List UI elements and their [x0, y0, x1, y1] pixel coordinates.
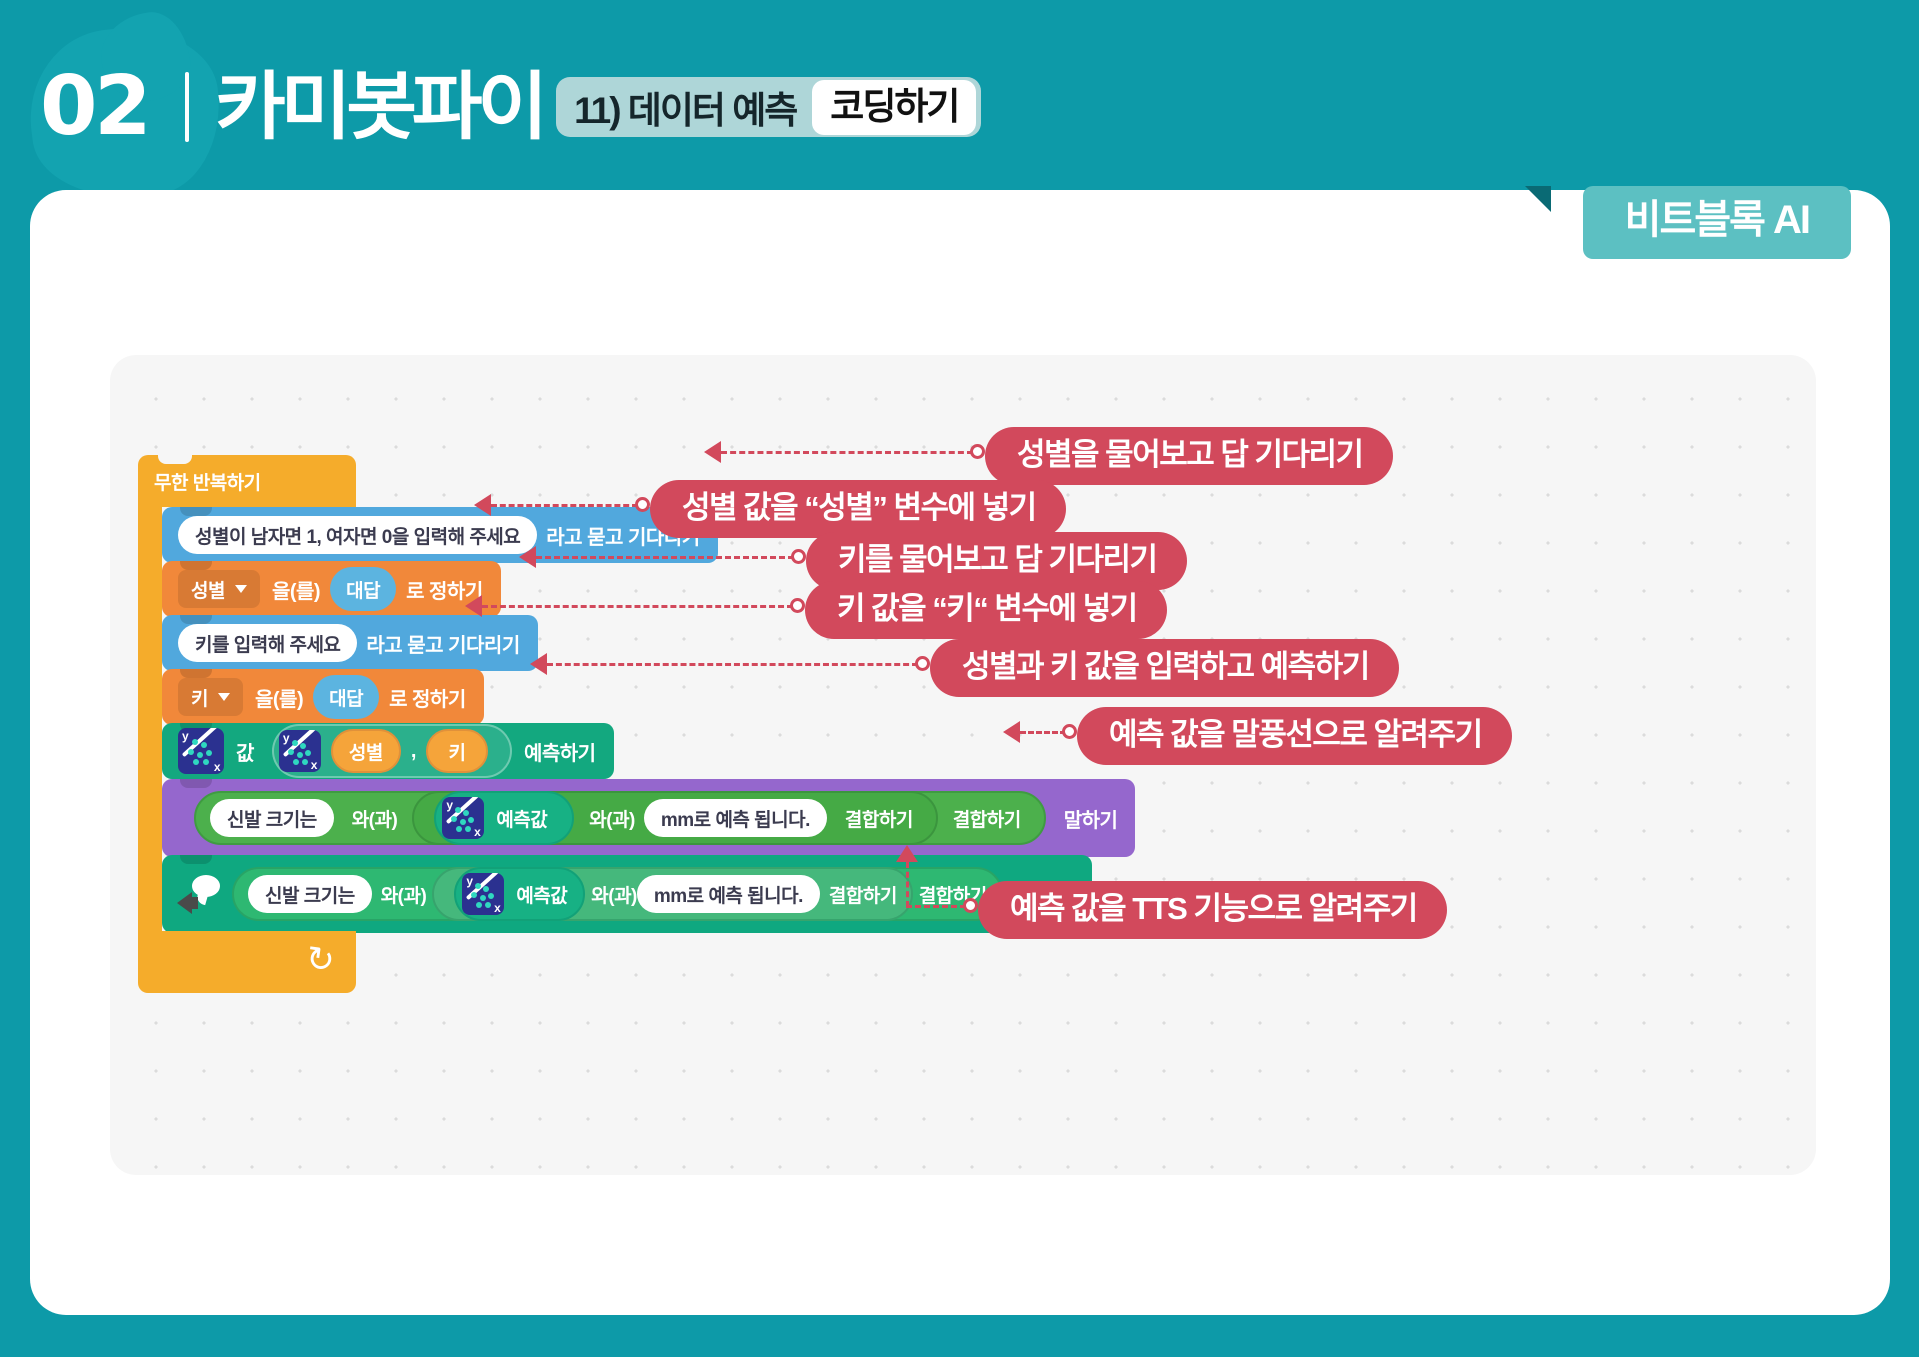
forever-label: 무한 반복하기	[154, 468, 261, 495]
callout-1: 성별을 물어보고 답 기다리기	[985, 427, 1393, 485]
ask-height-suffix: 라고 묻고 기다리기	[366, 629, 519, 658]
height-variable-dropdown[interactable]: 키	[178, 678, 243, 716]
say-block[interactable]: 신발 크기는 와(과) y x	[162, 779, 1135, 857]
chevron-down-icon	[218, 693, 230, 701]
predict-value-label: 값	[224, 737, 266, 766]
predict-suffix: 예측하기	[518, 737, 596, 766]
data-point	[476, 902, 482, 908]
say-and1-label: 와(과)	[343, 805, 407, 832]
data-point	[488, 893, 494, 899]
data-point	[197, 752, 203, 758]
say-join2-label: 결합하기	[944, 805, 1030, 832]
callout-6: 예측 값을 말풍선으로 알려주기	[1077, 707, 1512, 765]
data-point	[192, 739, 198, 745]
callout-line-4	[482, 605, 793, 608]
section-chip: 코딩하기	[812, 80, 976, 135]
scatter-plot-icon: y x	[442, 797, 484, 839]
callout-anchor-6	[1062, 724, 1077, 739]
gender-variable-reporter[interactable]: 성별	[331, 729, 401, 773]
notch-icon	[180, 669, 212, 678]
data-point	[485, 902, 491, 908]
scatter-plot-icon: y x	[279, 730, 321, 772]
page-title: 카미봇파이	[215, 70, 543, 144]
header-row: 02 카미봇파이 11) 데이터 예측 코딩하기	[40, 58, 981, 156]
data-point	[305, 750, 311, 756]
callout-line-6	[1020, 731, 1066, 734]
axis-x-label: x	[214, 760, 220, 774]
ai-badge: 비트블록 AI	[1583, 186, 1851, 259]
header-divider	[185, 72, 189, 142]
chevron-down-icon	[235, 585, 247, 593]
forever-spine	[138, 507, 162, 931]
callout-line-7-horizontal	[906, 905, 966, 908]
scatter-plot-icon: y x	[462, 873, 504, 915]
join-block-outer[interactable]: 신발 크기는 와(과) y x	[232, 867, 1003, 921]
data-point	[302, 759, 308, 765]
data-point	[480, 895, 486, 901]
data-point	[188, 749, 194, 755]
argument-separator: ,	[411, 740, 416, 763]
data-point	[300, 743, 306, 749]
predict-block[interactable]: y x 값 y x	[162, 723, 614, 779]
tts-speak-block[interactable]: 신발 크기는 와(과) y x	[162, 855, 1092, 933]
data-point	[468, 817, 474, 823]
join-block-inner[interactable]: y x	[432, 867, 913, 921]
scatter-plot-icon: y x	[178, 728, 224, 774]
data-point	[288, 749, 294, 755]
notch-icon	[180, 615, 212, 624]
callout-anchor-1	[970, 444, 985, 459]
data-point	[297, 752, 303, 758]
callout-anchor-2	[635, 497, 650, 512]
callout-line-1	[721, 451, 973, 454]
data-point	[483, 886, 489, 892]
callout-line-5	[547, 663, 918, 666]
set-height-mid: 을(를)	[255, 683, 303, 712]
say-text1-input[interactable]: 신발 크기는	[210, 799, 334, 837]
callout-2: 성별 값을 “성별” 변수에 넣기	[650, 480, 1066, 538]
callout-anchor-7	[963, 898, 978, 913]
axis-y-label: y	[182, 729, 188, 743]
chapter-number: 02	[40, 66, 164, 148]
join-block-inner[interactable]: y x	[412, 791, 938, 845]
predicted-value-label: 예측값	[504, 881, 567, 908]
speaker-body-icon	[190, 897, 198, 909]
block-script: 무한 반복하기 성별이 남자면 1, 여자면 0을 입력해 주세요 라고 묻고 …	[138, 455, 356, 993]
callout-arrow-2	[474, 494, 491, 516]
notch-icon	[180, 561, 212, 570]
callout-7: 예측 값을 TTS 기능으로 알려주기	[978, 881, 1447, 939]
set-variable-height-block[interactable]: 키 을(를) 대답 로 정하기	[162, 669, 484, 725]
callout-line-3	[536, 556, 794, 559]
callout-5: 성별과 키 값을 입력하고 예측하기	[930, 639, 1399, 697]
tts-join1-label: 결합하기	[829, 881, 897, 908]
callout-arrow-4	[465, 595, 482, 617]
tts-text2-input[interactable]: mm로 예측 됩니다.	[637, 875, 820, 913]
predicted-value-reporter[interactable]: y x	[454, 867, 585, 921]
height-variable-label: 키	[191, 684, 208, 711]
tts-and2-label: 와(과)	[591, 881, 637, 908]
set-variable-gender-block[interactable]: 성별 을(를) 대답 로 정하기	[162, 561, 501, 617]
tts-text1-input[interactable]: 신발 크기는	[248, 875, 372, 913]
height-variable-reporter[interactable]: 키	[426, 729, 488, 773]
axis-y-label: y	[283, 731, 289, 745]
data-point	[203, 759, 209, 765]
callout-anchor-4	[790, 598, 805, 613]
callout-4: 키 값을 “키“ 변수에 넣기	[805, 581, 1167, 639]
axis-x-label: x	[474, 825, 480, 839]
page-header: 02 카미봇파이 11) 데이터 예측 코딩하기	[0, 0, 1919, 205]
data-point	[451, 816, 457, 822]
callout-anchor-5	[915, 656, 930, 671]
data-point	[293, 759, 299, 765]
badge-fold-decoration	[1525, 186, 1551, 212]
say-and2-label: 와(과)	[580, 805, 644, 832]
ask-and-wait-height-block[interactable]: 키를 입력해 주세요 라고 묻고 기다리기	[162, 615, 538, 671]
header-subtitle-pill: 11) 데이터 예측 코딩하기	[556, 77, 981, 137]
data-point	[292, 740, 298, 746]
notch-icon	[180, 855, 212, 864]
axis-x-label: x	[494, 901, 500, 915]
notch-icon	[158, 455, 192, 464]
ask-height-input[interactable]: 키를 입력해 주세요	[178, 624, 357, 662]
set-height-suffix: 로 정하기	[389, 683, 466, 712]
data-point	[460, 819, 466, 825]
predict-arguments-group[interactable]: y x 성별 , 키	[272, 724, 512, 778]
axis-y-label: y	[446, 798, 452, 812]
data-point	[471, 892, 477, 898]
forever-block-footer[interactable]: ↺	[138, 931, 356, 993]
say-verb-label: 말하기	[1052, 804, 1118, 833]
answer-reporter[interactable]: 대답	[330, 567, 396, 611]
forever-body: 성별이 남자면 1, 여자면 0을 입력해 주세요 라고 묻고 기다리기 성별 …	[138, 507, 356, 931]
set-gender-mid: 을(를)	[272, 575, 320, 604]
callout-anchor-3	[791, 549, 806, 564]
callout-line-2	[491, 504, 638, 507]
data-point	[206, 750, 212, 756]
data-point	[201, 742, 207, 748]
axis-x-label: x	[311, 758, 317, 772]
predicted-value-reporter[interactable]: y x	[434, 791, 574, 845]
callout-arrow-5	[530, 653, 547, 675]
forever-block-header[interactable]: 무한 반복하기	[138, 455, 356, 507]
section-subtitle: 11) 데이터 예측	[574, 80, 812, 134]
data-point	[463, 810, 469, 816]
data-point	[465, 826, 471, 832]
ask-and-wait-gender-block[interactable]: 성별이 남자면 1, 여자면 0을 입력해 주세요 라고 묻고 기다리기	[162, 507, 718, 563]
axis-y-label: y	[466, 874, 472, 888]
ask-gender-input[interactable]: 성별이 남자면 1, 여자면 0을 입력해 주세요	[178, 516, 537, 554]
gender-variable-dropdown[interactable]: 성별	[178, 570, 260, 608]
data-point	[193, 759, 199, 765]
notch-icon	[180, 507, 212, 516]
callout-arrow-1	[704, 441, 721, 463]
callout-arrow-3	[519, 546, 536, 568]
join-block-outer[interactable]: 신발 크기는 와(과) y x	[194, 791, 1046, 845]
callout-arrow-6	[1003, 721, 1020, 743]
say-join1-label: 결합하기	[836, 805, 922, 832]
callout-line-7-vertical	[906, 862, 909, 907]
data-point	[456, 826, 462, 832]
notch-icon	[180, 779, 212, 788]
gender-variable-label: 성별	[191, 576, 225, 603]
speaker-speech-icon	[176, 873, 220, 915]
tts-and1-label: 와(과)	[381, 881, 427, 908]
say-text2-input[interactable]: mm로 예측 됩니다.	[644, 799, 827, 837]
predicted-value-label: 예측값	[484, 805, 556, 832]
forever-block[interactable]: 무한 반복하기 성별이 남자면 1, 여자면 0을 입력해 주세요 라고 묻고 …	[138, 455, 356, 993]
speech-bubble-icon	[192, 875, 220, 897]
loop-arrow-icon: ↺	[303, 941, 336, 979]
callout-arrow-7	[896, 845, 918, 862]
answer-reporter[interactable]: 대답	[313, 675, 379, 719]
